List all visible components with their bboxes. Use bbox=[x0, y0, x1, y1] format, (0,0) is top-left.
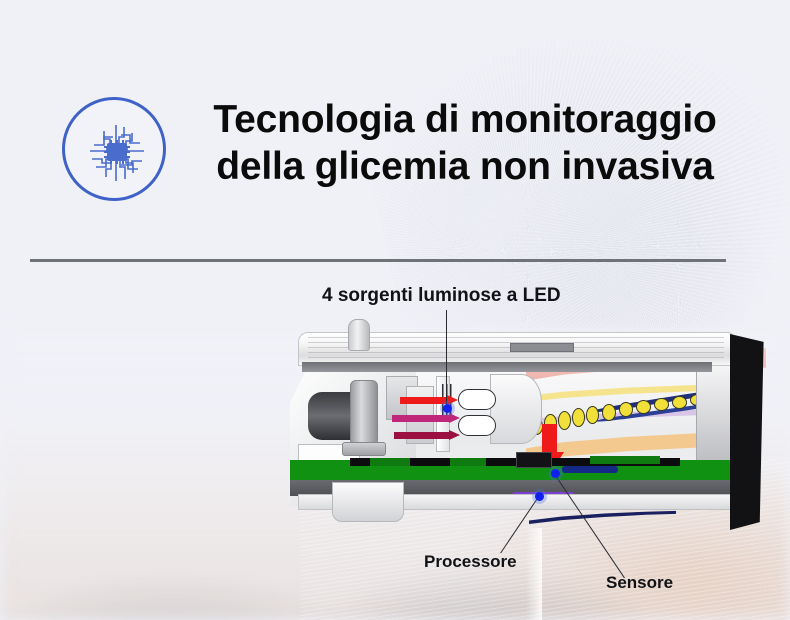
device-foot bbox=[332, 482, 404, 522]
internal-dark-block bbox=[308, 392, 350, 440]
led-emitter-lower bbox=[458, 415, 496, 436]
fat-lobule bbox=[602, 404, 616, 421]
led-callout-label: 4 sorgenti luminose a LED bbox=[322, 285, 561, 307]
internal-cylinder bbox=[350, 380, 378, 446]
page-title-line-2: della glicemia non invasiva bbox=[170, 143, 760, 190]
processor-marker-dot bbox=[535, 492, 544, 501]
fat-lobule bbox=[586, 406, 599, 424]
page-title: Tecnologia di monitoraggio della glicemi… bbox=[170, 96, 760, 190]
pcb-pad bbox=[590, 456, 660, 464]
fat-lobule bbox=[572, 408, 585, 427]
tissue-cut-edge bbox=[526, 528, 542, 620]
device-knob bbox=[348, 319, 370, 351]
pcb-ic-chip bbox=[516, 452, 552, 468]
internal-cylinder-base bbox=[342, 442, 386, 456]
fat-lobule bbox=[636, 400, 651, 414]
light-beam-2 bbox=[392, 413, 460, 424]
device-side-panel bbox=[730, 334, 778, 530]
page-title-line-1: Tecnologia di monitoraggio bbox=[213, 98, 716, 141]
fat-lobule bbox=[654, 398, 669, 411]
processor-callout-label: Processore bbox=[424, 552, 517, 572]
header-divider bbox=[30, 259, 726, 262]
sensor-callout-label: Sensore bbox=[606, 573, 673, 593]
device-top-slot bbox=[510, 343, 574, 352]
microchip-icon bbox=[62, 97, 166, 201]
device-cross-section-illustration bbox=[290, 332, 768, 532]
fat-lobule bbox=[672, 396, 687, 409]
device-dark-band bbox=[302, 362, 712, 372]
light-beam-3 bbox=[394, 430, 460, 441]
fat-lobule bbox=[619, 402, 633, 417]
poster-canvas: Tecnologia di monitoraggio della glicemi… bbox=[0, 0, 790, 620]
led-marker-dot bbox=[443, 404, 452, 413]
led-emitter-upper bbox=[458, 389, 496, 410]
sensor-component bbox=[562, 466, 618, 473]
sensor-marker-dot bbox=[551, 469, 560, 478]
microchip-icon-glyph bbox=[80, 115, 154, 189]
pcb-pad bbox=[450, 458, 486, 466]
pcb-pad bbox=[370, 458, 410, 466]
